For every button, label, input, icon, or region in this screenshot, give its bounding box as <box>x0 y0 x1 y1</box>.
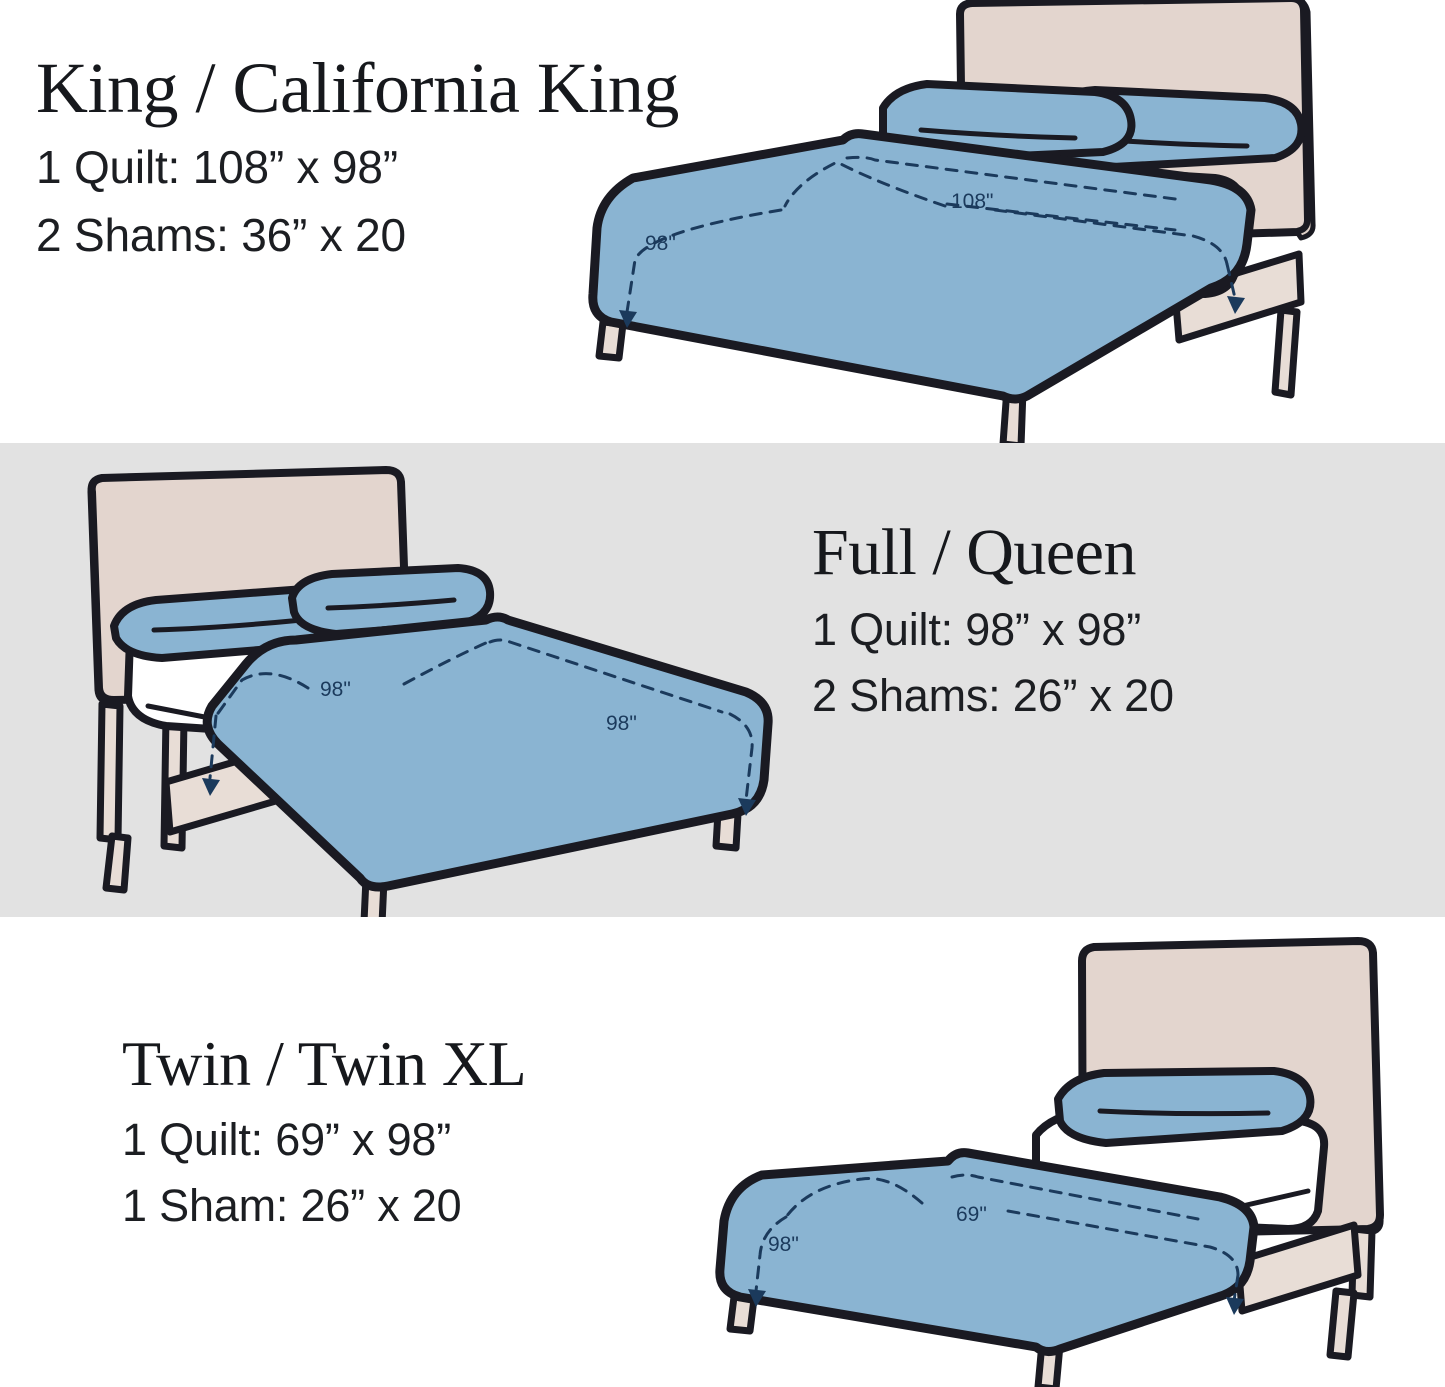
twin-quilt-line: 1 Quilt: 69” x 98” <box>122 1114 526 1166</box>
queen-quilt <box>207 617 768 887</box>
twin-pillow <box>1058 1071 1310 1143</box>
queen-post-left <box>100 704 120 840</box>
twin-length-label: 98" <box>768 1233 799 1256</box>
king-width-label: 108" <box>951 190 994 213</box>
twin-pillow-crease <box>1100 1111 1268 1114</box>
queen-bed-illustration: 98" 98" <box>70 448 800 918</box>
queen-length-label: 98" <box>606 712 637 735</box>
queen-text-block: Full / Queen 1 Quilt: 98” x 98” 2 Shams:… <box>812 520 1174 722</box>
king-quilt <box>593 134 1251 399</box>
queen-quilt-line: 1 Quilt: 98” x 98” <box>812 604 1174 656</box>
twin-width-label: 69" <box>956 1203 987 1226</box>
queen-heading: Full / Queen <box>812 520 1174 586</box>
twin-leg-right <box>1330 1291 1354 1357</box>
queen-sham-line: 2 Shams: 26” x 20 <box>812 670 1174 722</box>
twin-sham-line: 1 Sham: 26” x 20 <box>122 1180 526 1232</box>
king-leg-back-right <box>1275 310 1297 395</box>
queen-leg-left <box>106 836 128 890</box>
twin-bed-illustration: 69" 98" <box>690 925 1420 1387</box>
king-bed-illustration: 108" 98" <box>575 0 1335 452</box>
twin-text-block: Twin / Twin XL 1 Quilt: 69” x 98” 1 Sham… <box>122 1032 526 1232</box>
queen-width-label: 98" <box>320 678 351 701</box>
twin-heading: Twin / Twin XL <box>122 1032 526 1096</box>
king-length-label: 98" <box>645 232 676 255</box>
size-guide-page: King / California King 1 Quilt: 108” x 9… <box>0 0 1445 1387</box>
